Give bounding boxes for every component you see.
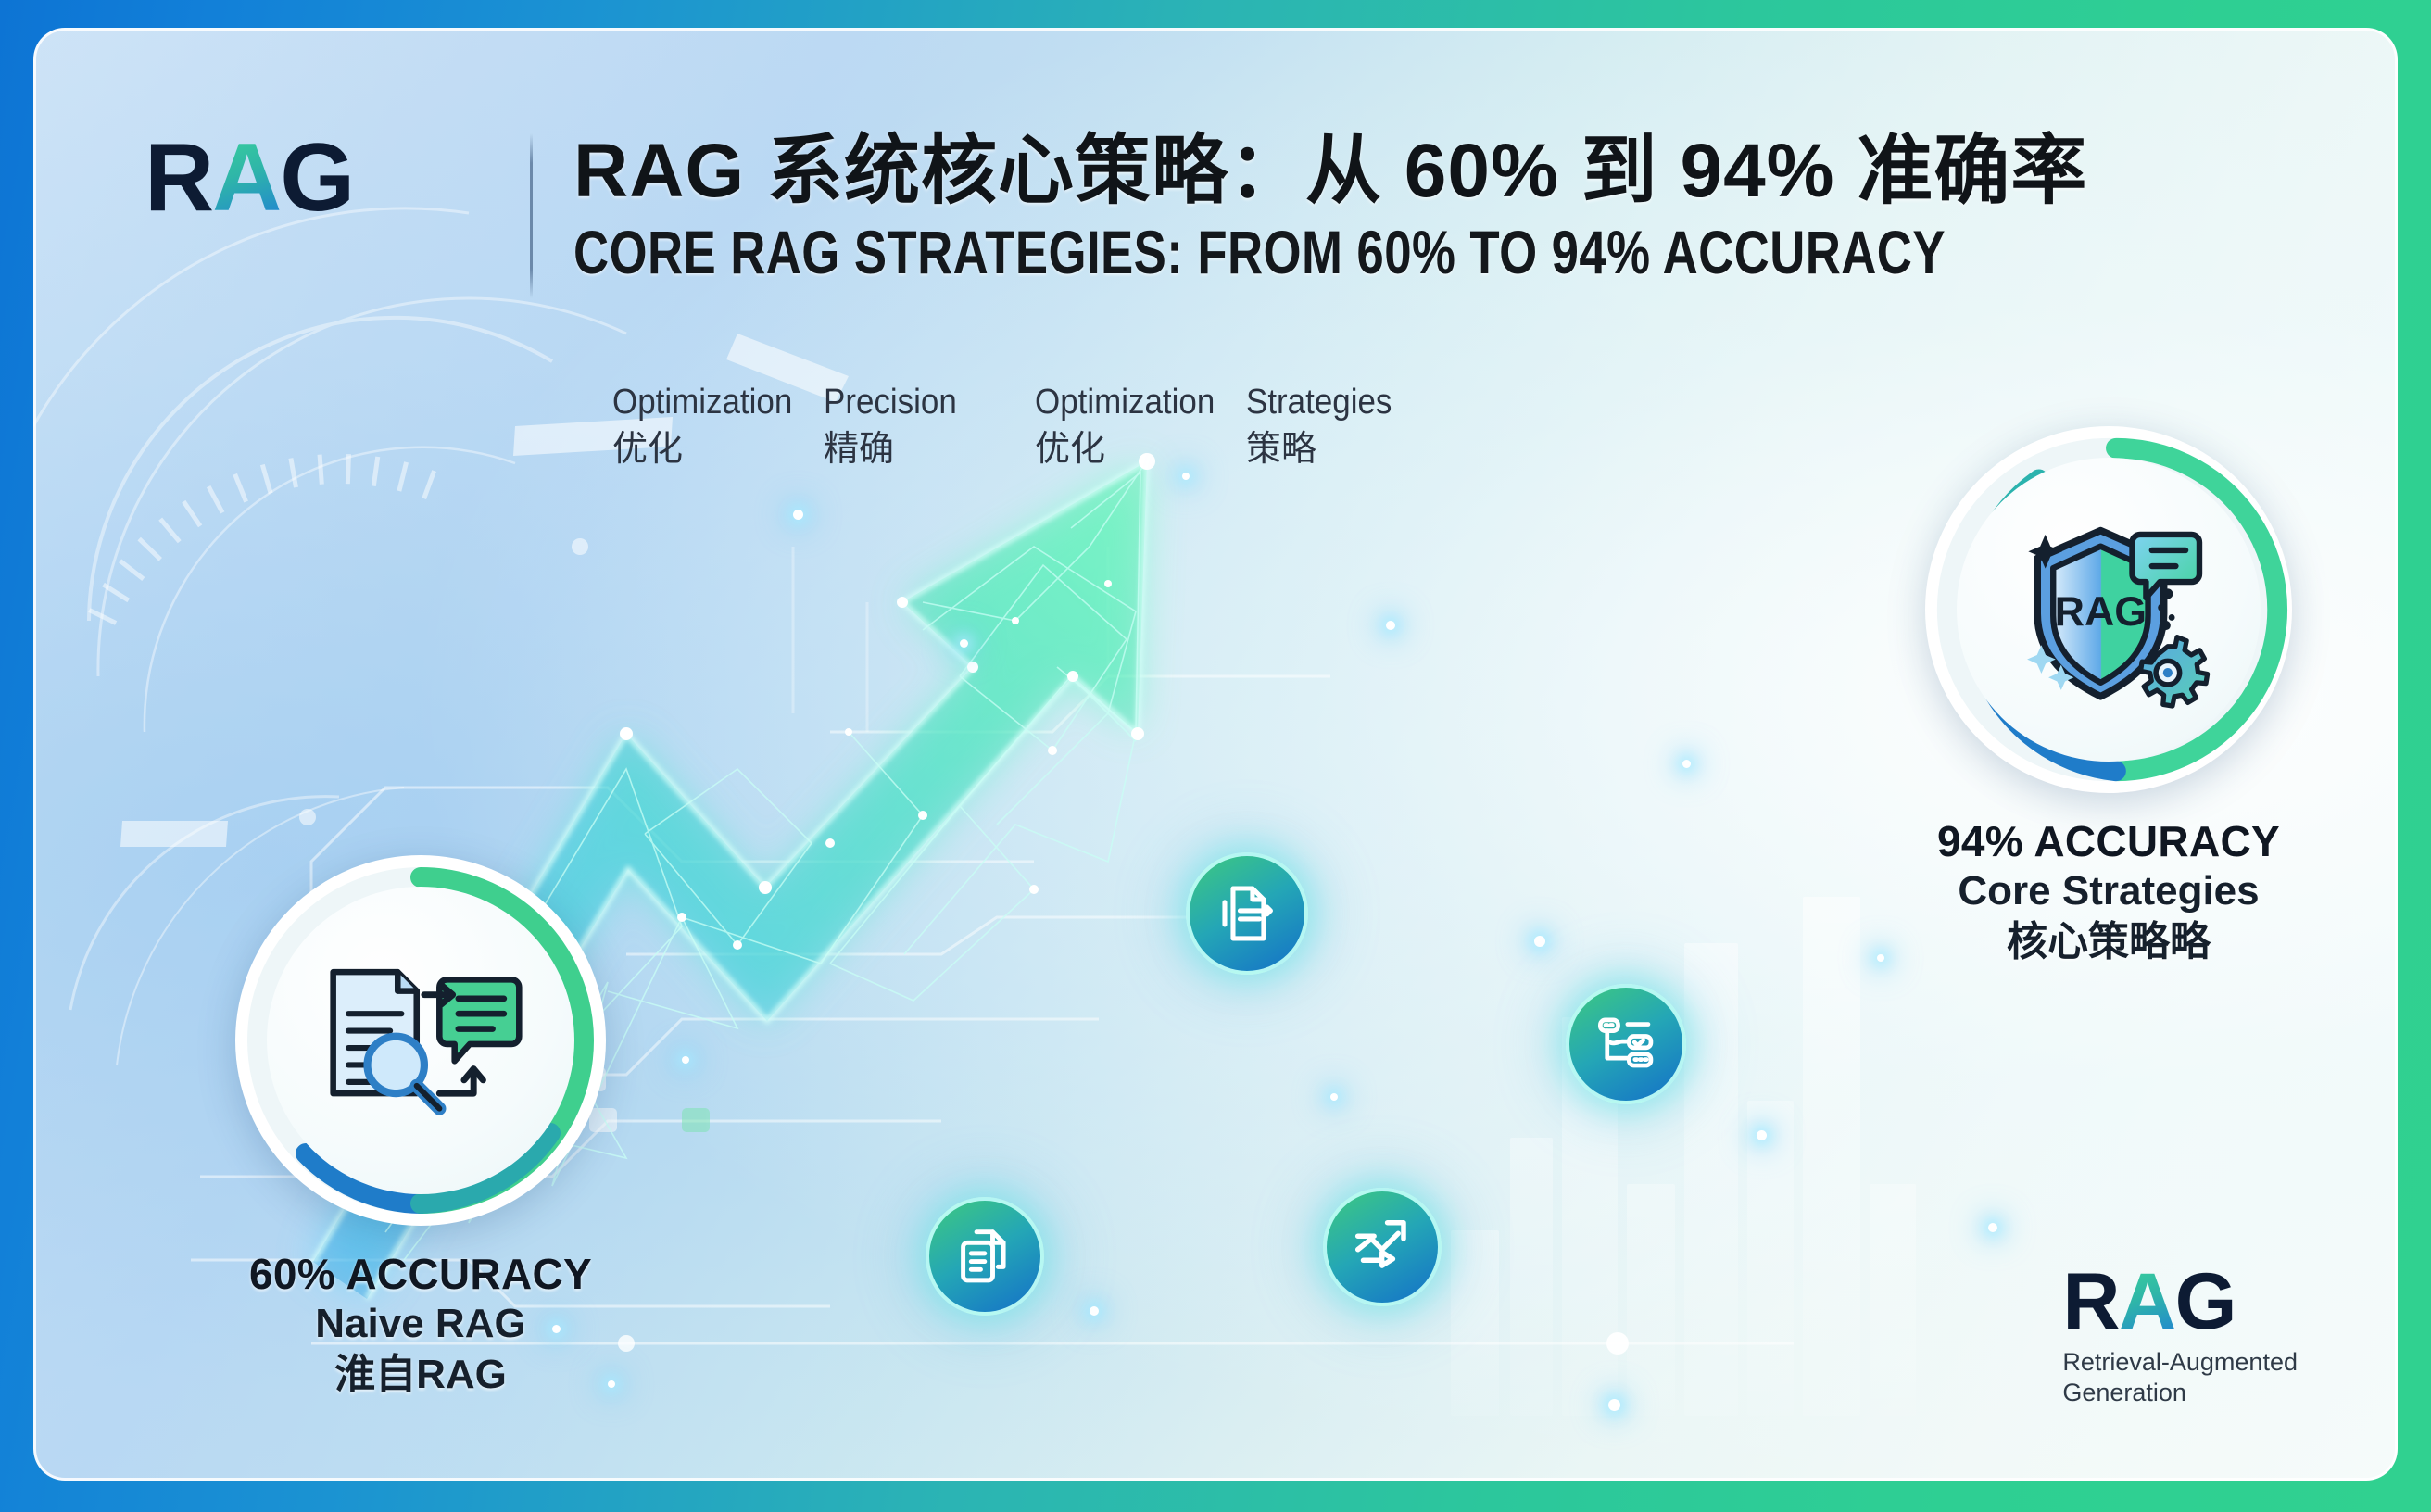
logo-letter-a: A bbox=[212, 130, 280, 226]
node-document-extract-icon[interactable] bbox=[1186, 852, 1308, 975]
badge-label-left-en: Naive RAG bbox=[235, 1300, 606, 1349]
document-search-chat-icon bbox=[307, 926, 535, 1154]
badge-label-left-cn: 淮自RAG bbox=[235, 1351, 606, 1400]
badge-caption-right: 94% ACCURACY Core Strategies 核心策略略 bbox=[1905, 817, 2312, 967]
keyword-cn: 优化 bbox=[1035, 429, 1246, 471]
keyword-item-3: Strategies 策略 bbox=[1246, 382, 1457, 471]
shield-rag-label: RAG bbox=[2055, 588, 2147, 635]
keyword-item-2: Optimization 优化 bbox=[1035, 382, 1246, 471]
shield-rag-icon: RAG bbox=[1990, 491, 2227, 728]
footer-tagline: Retrieval-Augmented Generation bbox=[2062, 1347, 2298, 1408]
footer-logo-letter-a: A bbox=[2119, 1262, 2175, 1342]
keyword-item-0: Optimization 优化 bbox=[612, 382, 824, 471]
background-bar-silhouettes bbox=[1451, 897, 2136, 1416]
badge-ring-left bbox=[235, 855, 606, 1226]
keyword-cn: 优化 bbox=[612, 429, 824, 471]
documents-copy-icon bbox=[952, 1224, 1017, 1289]
node-documents-copy-icon[interactable] bbox=[926, 1197, 1044, 1316]
badge-label-right-cn: 核心策略略 bbox=[1905, 918, 2312, 967]
badge-ring-right: RAG bbox=[1925, 426, 2292, 793]
logo-letter-g: G bbox=[280, 130, 353, 226]
badge-naive-rag: 60% ACCURACY Naive RAG 淮自RAG bbox=[235, 855, 606, 1400]
logo-letter-r: R bbox=[145, 130, 212, 226]
badge-accuracy-right: 94% ACCURACY bbox=[1905, 817, 2312, 865]
keyword-en: Precision bbox=[824, 382, 1018, 423]
workflow-nodes-icon bbox=[1593, 1012, 1659, 1077]
keyword-cn: 策略 bbox=[1246, 429, 1457, 471]
footer-logo-rag: RAG Retrieval-Augmented Generation bbox=[2062, 1262, 2298, 1408]
keyword-cn: 精确 bbox=[824, 429, 1035, 471]
badge-label-right-en: Core Strategies bbox=[1905, 867, 2312, 916]
badge-caption-left: 60% ACCURACY Naive RAG 淮自RAG bbox=[235, 1250, 606, 1400]
badge-accuracy-left: 60% ACCURACY bbox=[235, 1250, 606, 1298]
footer-tagline-line2: Generation bbox=[2062, 1378, 2298, 1408]
page-title-en: CORE RAG STRATEGIES: FROM 60% TO 94% ACC… bbox=[573, 220, 1946, 285]
keyword-en: Strategies bbox=[1246, 382, 1441, 423]
footer-logo-letter-g: G bbox=[2175, 1262, 2236, 1342]
keyword-en: Optimization bbox=[1035, 382, 1229, 423]
header: RAG RAG 系统核心策略：从 60% 到 94% 准确率 CORE RAG … bbox=[145, 130, 2288, 298]
keyword-item-1: Precision 精确 bbox=[824, 382, 1035, 471]
title-block: RAG 系统核心策略：从 60% 到 94% 准确率 CORE RAG STRA… bbox=[573, 130, 2288, 285]
brand-logo-rag: RAG bbox=[145, 130, 515, 226]
header-divider bbox=[530, 133, 533, 298]
node-trending-up-icon[interactable] bbox=[1323, 1188, 1442, 1306]
poster-root: RAG RAG 系统核心策略：从 60% 到 94% 准确率 CORE RAG … bbox=[0, 0, 2431, 1512]
keyword-row: Optimization 优化 Precision 精确 Optimizatio… bbox=[612, 382, 1457, 471]
footer-logo-letter-r: R bbox=[2062, 1262, 2119, 1342]
trending-up-icon bbox=[1350, 1215, 1415, 1279]
page-title-cn: RAG 系统核心策略：从 60% 到 94% 准确率 bbox=[573, 132, 2288, 212]
poster-card: RAG RAG 系统核心策略：从 60% 到 94% 准确率 CORE RAG … bbox=[33, 28, 2398, 1480]
badge-core-strategies: RAG bbox=[1905, 426, 2312, 967]
footer-tagline-line1: Retrieval-Augmented bbox=[2062, 1347, 2298, 1378]
node-workflow-icon[interactable] bbox=[1566, 984, 1686, 1104]
document-extract-icon bbox=[1214, 880, 1280, 947]
keyword-en: Optimization bbox=[612, 382, 807, 423]
